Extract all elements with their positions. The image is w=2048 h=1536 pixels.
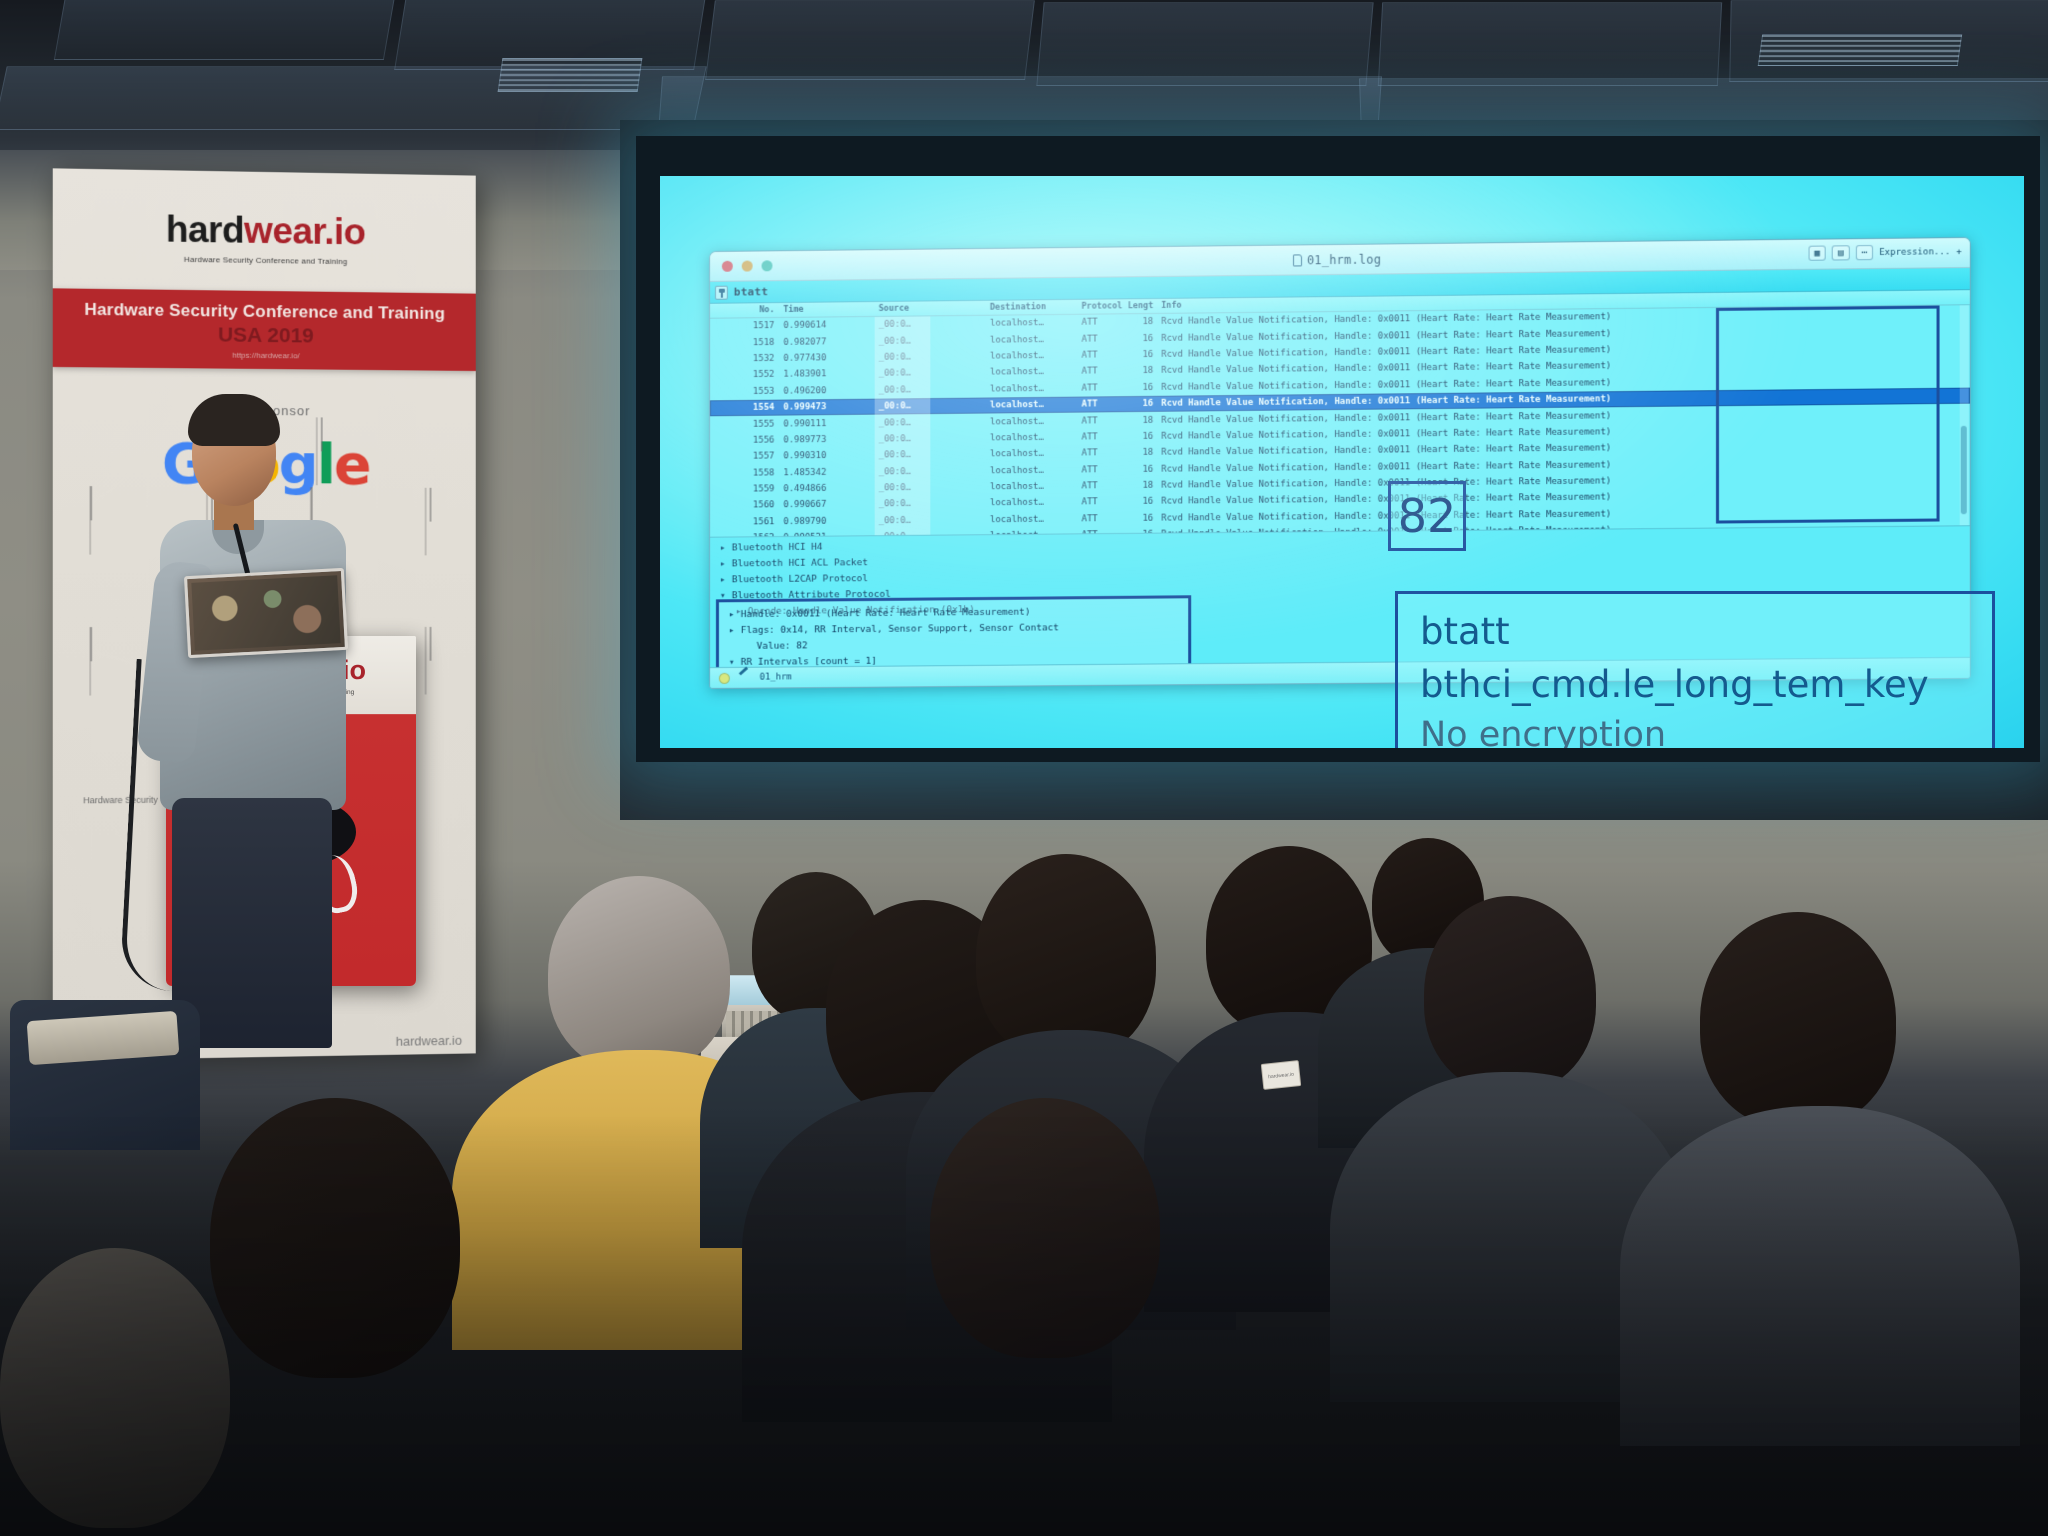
protocol-tree-label: Flags: 0x14, RR Interval, Sensor Support… (741, 622, 1059, 636)
window-toolbar-right[interactable]: ▦ ▤ ⋯ Expression... + (1808, 244, 1961, 261)
column-header-protocol[interactable]: Protocol (1082, 301, 1128, 311)
packet-protocol: ATT (1082, 399, 1128, 409)
packet-list-rows[interactable]: 15170.990614_00:0…localhost…ATT18Rcvd Ha… (710, 305, 1970, 537)
packet-time: 0.990614 (781, 320, 872, 331)
packet-protocol: ATT (1082, 367, 1128, 377)
packet-time: 0.990667 (781, 500, 872, 511)
column-header-time[interactable]: Time (781, 304, 872, 315)
protocol-tree-label: Bluetooth Attribute Protocol (732, 589, 891, 601)
audience-chair (10, 1000, 200, 1150)
packet-length: 16 (1127, 333, 1161, 343)
options-button[interactable]: ⋯ (1856, 245, 1874, 260)
annotation-callout-filters: btatt bthci_cmd.le_long_tem_key No encry… (1395, 591, 1995, 748)
packet-no: 1554 (710, 403, 781, 414)
packet-time: 0.982077 (781, 336, 872, 347)
status-file-label: 01_hrm (760, 672, 792, 682)
packet-source: _00:0… (873, 515, 990, 526)
projection-screen: 01_hrm.log ▦ ▤ ⋯ Expression... + btatt (660, 176, 2024, 748)
packet-destination: localhost… (990, 416, 1082, 427)
packet-no: 1558 (710, 468, 781, 479)
audience-shoulders (1620, 1106, 2020, 1446)
packet-source: _00:0… (873, 384, 990, 395)
packet-time: 1.483901 (781, 369, 872, 380)
packet-destination: localhost… (990, 318, 1082, 329)
protocol-tree-label: Value: 82 (757, 640, 808, 651)
packet-destination: localhost… (990, 498, 1082, 509)
packet-destination: localhost… (990, 482, 1082, 493)
packet-length: 16 (1127, 497, 1161, 507)
packet-time: 0.990310 (781, 451, 872, 462)
list-view-button[interactable]: ▤ (1832, 245, 1850, 260)
audience-head (0, 1248, 230, 1528)
packet-time: 0.999473 (781, 402, 872, 413)
packet-time: 0.989790 (781, 516, 872, 527)
packet-time: 1.485342 (781, 467, 872, 478)
packet-source: _00:0… (873, 352, 990, 363)
column-header-length[interactable]: Lengt (1127, 301, 1161, 311)
callout-line-no-encryption: No encryption (1420, 711, 1972, 748)
chevron-right-icon[interactable] (720, 540, 732, 556)
packet-no: 1561 (710, 517, 781, 528)
packet-no: 1556 (710, 435, 781, 446)
packet-destination: localhost… (990, 432, 1082, 443)
scrollbar-thumb[interactable] (1961, 426, 1967, 514)
banner-url-small: https://hardwear.io/ (53, 349, 476, 362)
edit-pencil-icon[interactable] (739, 672, 751, 684)
packet-no: 1559 (710, 484, 781, 495)
column-header-source[interactable]: Source (873, 303, 990, 314)
ceiling-tile (1036, 2, 1373, 86)
ceiling-tile (54, 0, 396, 60)
conference-room-scene: 01_hrm.log ▦ ▤ ⋯ Expression... + btatt (0, 0, 2048, 1536)
chevron-down-icon[interactable] (720, 588, 732, 604)
banner-conference-title: Hardware Security Conference and Trainin… (53, 299, 476, 324)
document-icon (1293, 254, 1302, 266)
chevron-right-icon[interactable] (729, 623, 741, 639)
speaker-presenter (150, 402, 380, 1062)
packet-length: 16 (1127, 432, 1161, 442)
packet-no: 1555 (710, 419, 781, 430)
packet-source: _00:0… (873, 466, 990, 477)
protocol-tree-label: Bluetooth HCI ACL Packet (732, 557, 868, 569)
packet-source: _00:0… (873, 401, 990, 412)
packet-protocol: ATT (1082, 350, 1128, 360)
add-button[interactable]: + (1956, 247, 1961, 257)
speaker-hair (188, 394, 280, 446)
capture-status-icon (719, 672, 730, 683)
packet-time: 0.977430 (781, 353, 872, 364)
packet-source: _00:0… (873, 499, 990, 510)
chevron-right-icon[interactable] (736, 604, 748, 620)
packet-protocol: ATT (1082, 465, 1128, 475)
packet-source: _00:0… (873, 450, 990, 461)
ceiling-air-vent (1758, 34, 1962, 66)
packet-protocol: ATT (1082, 383, 1128, 393)
packet-length: 16 (1127, 464, 1161, 474)
packet-no: 1518 (710, 337, 781, 348)
packet-list-pane[interactable]: No. Time Source Destination Protocol Len… (710, 290, 1970, 538)
packet-source: _00:0… (873, 319, 990, 330)
packet-list-scrollbar[interactable] (1960, 305, 1969, 525)
packet-destination: localhost… (990, 367, 1082, 378)
packet-destination: localhost… (990, 351, 1082, 362)
packet-source: _00:0… (873, 433, 990, 444)
packet-time: 0.989773 (781, 434, 872, 445)
packet-length: 18 (1127, 317, 1161, 327)
ceiling-tile (0, 66, 707, 130)
packet-destination: localhost… (990, 514, 1082, 525)
packet-source: _00:0… (873, 417, 990, 428)
audience-head (1700, 912, 1896, 1128)
speaker-held-laptop (184, 568, 348, 658)
packet-no: 1552 (710, 370, 781, 381)
window-title-text: 01_hrm.log (1307, 252, 1381, 267)
packet-length: 18 (1127, 366, 1161, 376)
packet-protocol: ATT (1082, 514, 1128, 524)
audience-head (930, 1098, 1160, 1358)
chevron-right-icon[interactable] (720, 556, 732, 572)
protocol-tree-label: Opcode: Handle Value Notification (0x1b) (748, 604, 975, 617)
packet-length: 16 (1127, 383, 1161, 393)
packet-length: 16 (1127, 399, 1161, 409)
packet-length: 16 (1127, 514, 1161, 524)
packet-protocol: ATT (1082, 416, 1128, 426)
packet-time: 0.990111 (781, 418, 872, 429)
packet-protocol: ATT (1082, 481, 1128, 491)
packet-length: 18 (1127, 448, 1161, 458)
packet-protocol: ATT (1082, 448, 1128, 458)
banner-logo: hardwear.io (53, 207, 476, 255)
packet-protocol: ATT (1082, 432, 1128, 442)
protocol-tree-item[interactable]: Value: 82 (729, 635, 1188, 655)
banner-logo-wear: wear.io (244, 210, 365, 253)
ceiling-tile (705, 0, 1035, 80)
packet-destination: localhost… (990, 334, 1082, 345)
protocol-tree-label: Bluetooth L2CAP Protocol (732, 573, 868, 585)
display-filter-input[interactable]: btatt (734, 285, 768, 298)
banner-tagline: Hardware Security Conference and Trainin… (53, 253, 476, 268)
window-title: 01_hrm.log (710, 245, 1970, 273)
column-header-destination[interactable]: Destination (990, 302, 1082, 313)
packet-no: 1553 (710, 386, 781, 397)
protocol-tree-label: Bluetooth HCI H4 (732, 542, 823, 554)
column-header-no[interactable]: No. (710, 305, 781, 316)
packet-length: 18 (1127, 481, 1161, 491)
projection-screen-frame: 01_hrm.log ▦ ▤ ⋯ Expression... + btatt (636, 136, 2040, 762)
banner-red-strip: Hardware Security Conference and Trainin… (53, 288, 476, 371)
audience-head (210, 1098, 460, 1378)
packet-length: 16 (1127, 350, 1161, 360)
grid-view-button[interactable]: ▦ (1808, 246, 1826, 261)
callout-line-btatt: btatt (1420, 606, 1972, 659)
packet-protocol: ATT (1082, 317, 1128, 327)
packet-destination: localhost… (990, 400, 1082, 411)
chevron-right-icon[interactable] (720, 572, 732, 588)
packet-time: 0.496200 (781, 385, 872, 396)
packet-no: 1560 (710, 501, 781, 512)
banner-logo-hard: hard (166, 208, 244, 250)
packet-source: _00:0… (873, 482, 990, 493)
attendee-badge: hardwear.io (1261, 1060, 1302, 1090)
packet-destination: localhost… (990, 465, 1082, 476)
banner-edition: USA 2019 (53, 322, 476, 351)
audience-head (1424, 896, 1596, 1092)
packet-protocol: ATT (1082, 334, 1128, 344)
packet-destination: localhost… (990, 449, 1082, 460)
packet-length: 18 (1127, 415, 1161, 425)
ceiling-tile (1378, 2, 1722, 86)
packet-time: 0.494866 (781, 484, 872, 495)
packet-no: 1517 (710, 321, 781, 332)
packet-protocol: ATT (1082, 497, 1128, 507)
packet-destination: localhost… (990, 383, 1082, 394)
packet-source: _00:0… (873, 335, 990, 346)
expression-button[interactable]: Expression... (1879, 247, 1950, 258)
audience-head (548, 876, 730, 1072)
callout-line-ltk: bthci_cmd.le_long_tem_key (1420, 659, 1972, 712)
packet-source: _00:0… (873, 368, 990, 379)
packet-no: 1532 (710, 354, 781, 365)
protocol-tree-item[interactable]: Flags: 0x14, RR Interval, Sensor Support… (729, 619, 1188, 639)
packet-no: 1557 (710, 452, 781, 463)
banner-footer-url: hardwear.io (396, 1033, 462, 1049)
annotation-callout-value: 82 (1388, 481, 1466, 551)
bookmark-filter-icon[interactable] (715, 285, 728, 299)
